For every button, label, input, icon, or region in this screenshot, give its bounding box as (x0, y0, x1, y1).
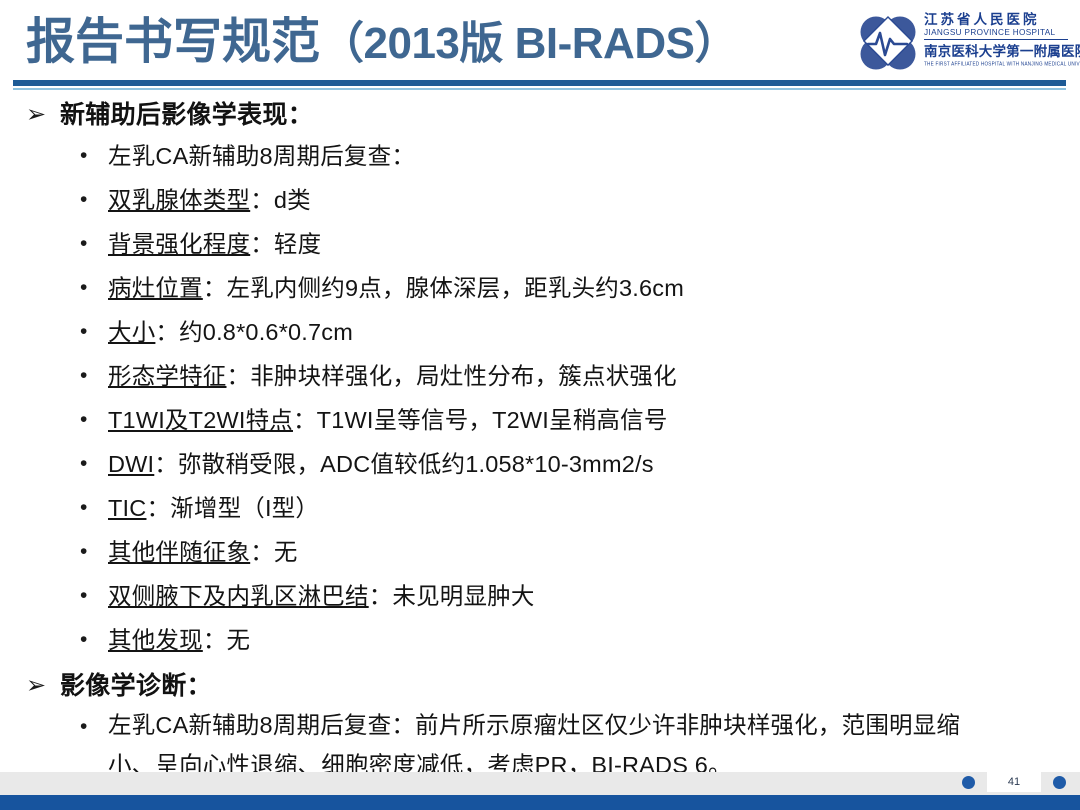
list-item: •病灶位置：左乳内侧约9点，腺体深层，距乳头约3.6cm (0, 266, 1080, 310)
list-item-text: 病灶位置：左乳内侧约9点，腺体深层，距乳头约3.6cm (108, 266, 684, 310)
section-heading: ➢影像学诊断： (0, 669, 1080, 703)
section-heading-label: 影像学诊断： (60, 669, 212, 703)
dot-bullet-icon: • (80, 442, 108, 486)
list-item-value: ：轻度 (250, 231, 321, 257)
list-item-value: ：弥散稍受限，ADC值较低约1.058*10-3mm2/s (154, 451, 653, 477)
footer-bar (0, 795, 1080, 810)
list-item-label: 大小 (108, 319, 155, 345)
list-item-value: ：非肿块样强化，局灶性分布，簇点状强化 (227, 363, 677, 389)
dot-bullet-icon: • (80, 530, 108, 574)
header-divider-thick (13, 80, 1066, 86)
list-item-value: ：左乳内侧约9点，腺体深层，距乳头约3.6cm (203, 275, 684, 301)
dot-bullet-icon: • (80, 354, 108, 398)
list-item-label: 双侧腋下及内乳区淋巴结 (108, 583, 369, 609)
list-item: •DWI：弥散稍受限，ADC值较低约1.058*10-3mm2/s (0, 442, 1080, 486)
header-divider-thin (13, 88, 1066, 90)
dot-bullet-icon: • (80, 486, 108, 530)
list-item-label: 其他伴随征象 (108, 539, 250, 565)
dot-bullet-icon: • (80, 574, 108, 618)
dot-bullet-icon: • (80, 398, 108, 442)
dot-bullet-icon: • (80, 310, 108, 354)
list-item: •双乳腺体类型：d类 (0, 178, 1080, 222)
page-indicator: 41 (962, 769, 1066, 795)
dot-bullet-icon: • (80, 178, 108, 222)
slide-content: ➢新辅助后影像学表现：•左乳CA新辅助8周期后复查：•双乳腺体类型：d类•背景强… (0, 98, 1080, 785)
list-item-text: DWI：弥散稍受限，ADC值较低约1.058*10-3mm2/s (108, 442, 654, 486)
list-item: •大小：约0.8*0.6*0.7cm (0, 310, 1080, 354)
list-item-label: 病灶位置 (108, 275, 203, 301)
list-item-label: 背景强化程度 (108, 231, 250, 257)
list-item-label: DWI (108, 451, 154, 477)
list-item-label: 双乳腺体类型 (108, 187, 250, 213)
section-spacer (0, 662, 1080, 669)
pager-dot-right (1053, 776, 1066, 789)
list-item-value: ：无 (203, 627, 250, 653)
page-number: 41 (987, 772, 1041, 792)
hospital-logo-text: 江苏省人民医院 JIANGSU PROVINCE HOSPITAL 南京医科大学… (924, 12, 1070, 67)
list-item-label: TIC (108, 495, 146, 521)
section-heading: ➢新辅助后影像学表现： (0, 98, 1080, 132)
arrow-bullet-icon: ➢ (24, 98, 60, 132)
list-item-label: 形态学特征 (108, 363, 227, 389)
list-item-text: 其他发现：无 (108, 618, 250, 662)
page-title: 报告书写规范（2013版 BI-RADS） (26, 10, 738, 76)
logo-cn-line-2: 南京医科大学第一附属医院 (924, 43, 1070, 60)
dot-bullet-icon: • (80, 266, 108, 310)
list-item-text: T1WI及T2WI特点：T1WI呈等信号，T2WI呈稍高信号 (108, 398, 668, 442)
list-item-text: TIC：渐增型（I型） (108, 486, 319, 530)
list-item-text: 形态学特征：非肿块样强化，局灶性分布，簇点状强化 (108, 354, 677, 398)
dot-bullet-icon: • (80, 134, 108, 178)
logo-en-line-2: THE FIRST AFFILIATED HOSPITAL WITH NANJI… (924, 60, 1070, 68)
dot-bullet-icon: • (80, 705, 108, 749)
slide-header: 报告书写规范（2013版 BI-RADS） 江苏省人民医院 JIANGSU PR… (0, 0, 1080, 95)
pager-dot-left (962, 776, 975, 789)
list-item-label: 其他发现 (108, 627, 203, 653)
list-item: •双侧腋下及内乳区淋巴结：未见明显肿大 (0, 574, 1080, 618)
dot-bullet-icon: • (80, 222, 108, 266)
list-item: •形态学特征：非肿块样强化，局灶性分布，簇点状强化 (0, 354, 1080, 398)
list-item-value: ：未见明显肿大 (369, 583, 535, 609)
page-title-parenthetical: （2013版 BI-RADS） (320, 19, 738, 68)
list-item-text: 大小：约0.8*0.6*0.7cm (108, 310, 353, 354)
list-item: •其他发现：无 (0, 618, 1080, 662)
list-item-value: ：T1WI呈等信号，T2WI呈稍高信号 (293, 407, 668, 433)
logo-cn-line-1: 江苏省人民医院 (924, 12, 1070, 28)
section-heading-label: 新辅助后影像学表现： (60, 98, 313, 132)
list-item: •其他伴随征象：无 (0, 530, 1080, 574)
page-title-main: 报告书写规范 (26, 15, 320, 69)
list-item: •TIC：渐增型（I型） (0, 486, 1080, 530)
hospital-logo: 江苏省人民医院 JIANGSU PROVINCE HOSPITAL 南京医科大学… (858, 12, 1070, 74)
hospital-logo-icon (858, 14, 918, 72)
list-item-value: ：渐增型（I型） (146, 495, 319, 521)
dot-bullet-icon: • (80, 618, 108, 662)
list-item: •背景强化程度：轻度 (0, 222, 1080, 266)
list-item-value: ：约0.8*0.6*0.7cm (155, 319, 353, 345)
arrow-bullet-icon: ➢ (24, 669, 60, 703)
list-item: •左乳CA新辅助8周期后复查： (0, 134, 1080, 178)
footer-band (0, 772, 1080, 795)
logo-en-line-1: JIANGSU PROVINCE HOSPITAL (924, 28, 1068, 40)
list-item-text: 背景强化程度：轻度 (108, 222, 321, 266)
list-item-text: 左乳CA新辅助8周期后复查： (108, 134, 415, 178)
list-item: •T1WI及T2WI特点：T1WI呈等信号，T2WI呈稍高信号 (0, 398, 1080, 442)
list-item-label: T1WI及T2WI特点 (108, 407, 293, 433)
list-item-text: 双乳腺体类型：d类 (108, 178, 311, 222)
list-item-text: 双侧腋下及内乳区淋巴结：未见明显肿大 (108, 574, 535, 618)
list-item-text: 其他伴随征象：无 (108, 530, 298, 574)
list-item-value: ：d类 (250, 187, 311, 213)
list-item-value: ：无 (250, 539, 297, 565)
